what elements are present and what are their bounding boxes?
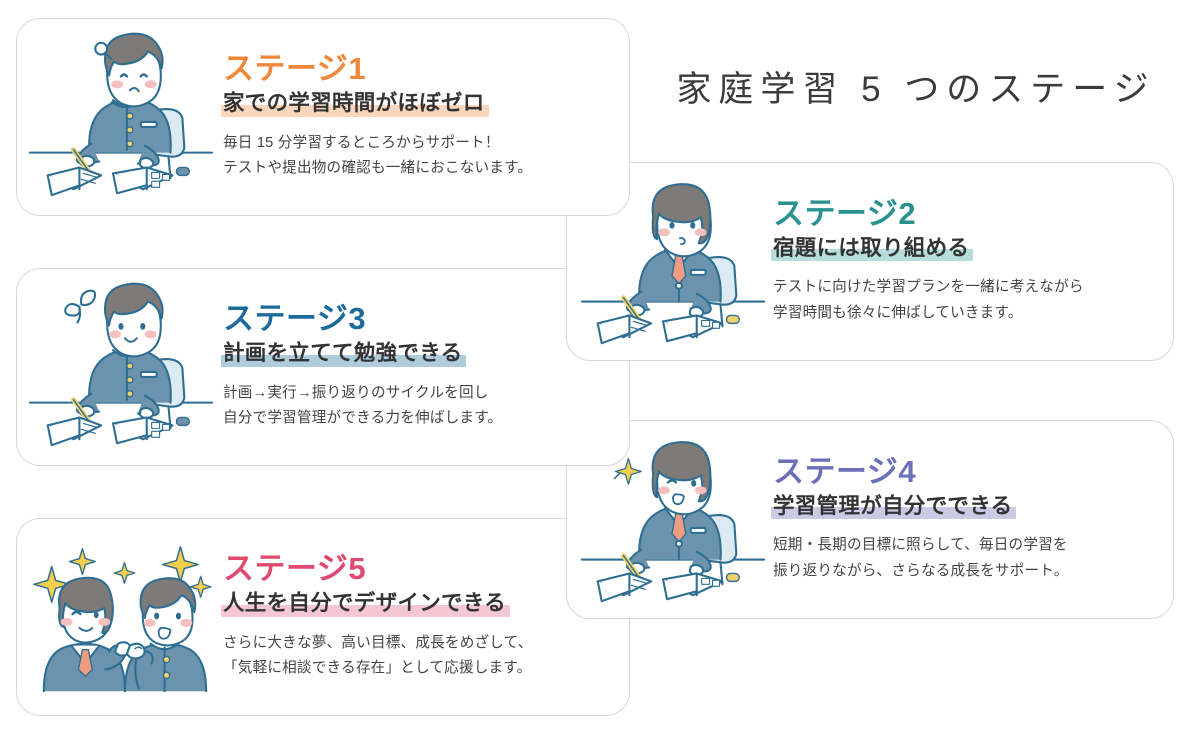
stage-card-2-text: ステージ2 宿題には取り組める テストに向けた学習プランを一緒に考えながら 学習… [773,197,1173,326]
stage-label-3: ステージ3 [223,302,611,337]
stage-subtitle-4: 学習管理が自分でできる [773,494,1012,518]
stage-subtitle-2-wrap: 宿題には取り組める [773,235,969,263]
stage-description-1: 毎日 15 分学習するところからサポート！ テストや提出物の確認も一緒におこない… [223,131,611,182]
infographic-canvas: 家庭学習 5 つのステージ [0,0,1190,744]
stage-card-4: ステージ4 学習管理が自分でできる 短期・長期の目標に照らして、毎日の学習を 振… [566,420,1174,619]
stage-subtitle-3-wrap: 計画を立てて勉強できる [223,340,462,368]
stage-subtitle-3: 計画を立てて勉強できる [223,341,462,365]
stage-card-1-text: ステージ1 家での学習時間がほぼゼロ 毎日 15 分学習するところからサポート！… [223,52,629,181]
illustration-two-students-celebrating-sparkles [17,519,223,715]
stage-subtitle-4-wrap: 学習管理が自分でできる [773,493,1012,521]
stage-description-4: 短期・長期の目標に照らして、毎日の学習を 振り返りながら、さらなる成長をサポート… [773,533,1155,584]
stage-card-5: ステージ5 人生を自分でデザインできる さらに大きな夢、高い目標、成長をめざして… [16,518,630,716]
stage-label-4: ステージ4 [773,455,1155,490]
stage-subtitle-5: 人生を自分でデザインできる [223,591,506,615]
stage-subtitle-1-wrap: 家での学習時間がほぼゼロ [223,90,485,118]
stage-label-5: ステージ5 [223,552,611,587]
stage-description-2: テストに向けた学習プランを一緒に考えながら 学習時間も徐々に伸ばしていきます。 [773,275,1155,326]
stage-label-2: ステージ2 [773,197,1155,232]
stage-subtitle-2: 宿題には取り組める [773,236,969,260]
stage-description-5: さらに大きな夢、高い目標、成長をめざして、 「気軽に相談できる存在」として応援し… [223,631,611,682]
stage-card-3: ステージ3 計画を立てて勉強できる 計画→実行→振り返りのサイクルを回し 自分で… [16,268,630,466]
stage-subtitle-1: 家での学習時間がほぼゼロ [223,91,485,115]
illustration-boy-studying-worried [17,19,223,215]
illustration-boy-studying-smiling-sprout [17,269,223,465]
page-title: 家庭学習 5 つのステージ [660,61,1172,112]
stage-description-3: 計画→実行→振り返りのサイクルを回し 自分で学習管理ができる力を伸ばします。 [223,381,611,432]
stage-subtitle-5-wrap: 人生を自分でデザインできる [223,590,506,618]
stage-card-4-text: ステージ4 学習管理が自分でできる 短期・長期の目標に照らして、毎日の学習を 振… [773,455,1173,584]
stage-card-2: ステージ2 宿題には取り組める テストに向けた学習プランを一緒に考えながら 学習… [566,162,1174,361]
stage-card-1: ステージ1 家での学習時間がほぼゼロ 毎日 15 分学習するところからサポート！… [16,18,630,216]
stage-label-1: ステージ1 [223,52,611,87]
